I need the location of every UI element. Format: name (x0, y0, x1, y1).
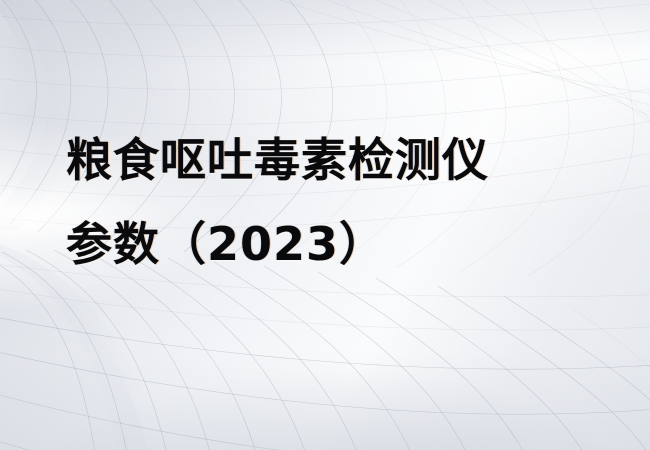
title-line-1: 粮食呕吐毒素检测仪 (66, 118, 586, 202)
title-line-2: 参数（2023） (66, 202, 586, 286)
banner-image: 粮食呕吐毒素检测仪 参数（2023） (0, 0, 650, 450)
banner-title: 粮食呕吐毒素检测仪 参数（2023） (66, 118, 586, 286)
